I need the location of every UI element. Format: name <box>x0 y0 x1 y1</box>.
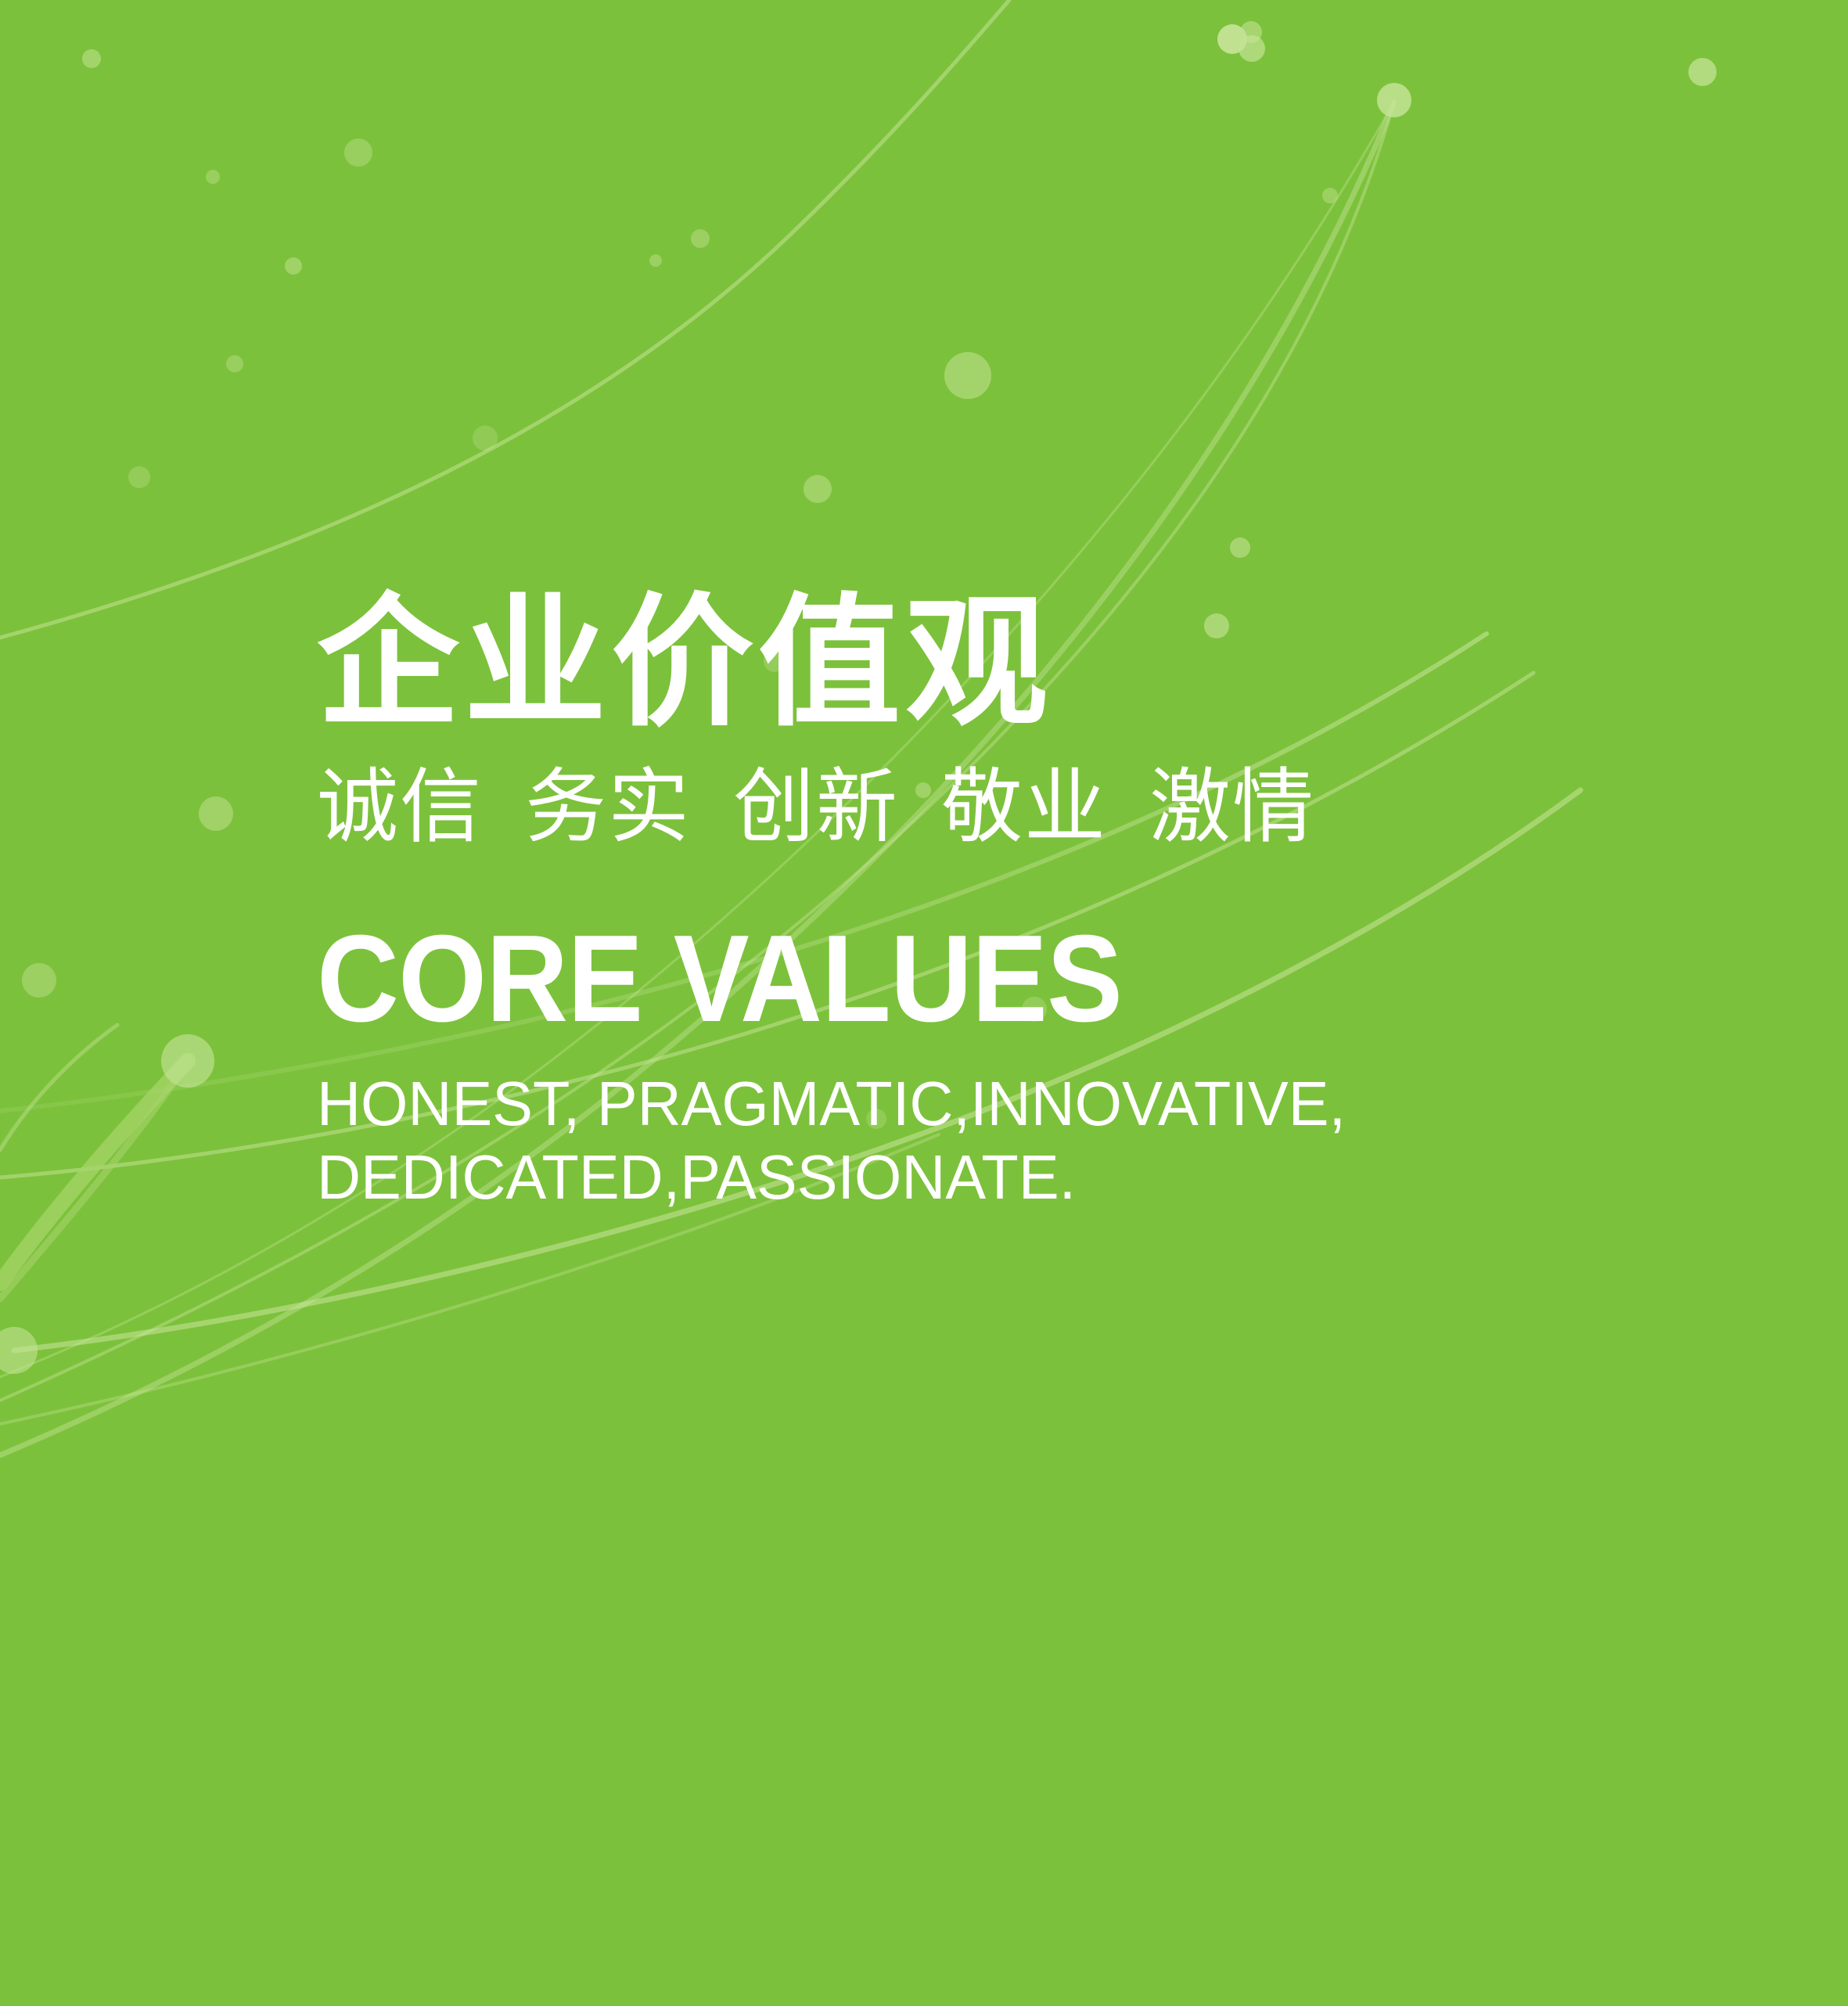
english-body: HONEST, PRAGMATIC,INNOVATIVE, DEDICATED,… <box>317 1041 1683 1215</box>
node-dot <box>1688 58 1717 86</box>
node-dot <box>128 466 150 488</box>
node-dot <box>944 352 991 399</box>
english-body-line-1: HONEST, PRAGMATIC,INNOVATIVE, <box>317 1067 1683 1141</box>
node-dot <box>344 138 372 167</box>
node-dot <box>1239 35 1265 62</box>
node-dot <box>199 796 233 831</box>
node-dot <box>82 49 101 68</box>
english-body-line-2: DEDICATED,PASSIONATE. <box>317 1141 1683 1214</box>
node-dot <box>1377 83 1411 117</box>
chinese-value-1: 诚信 <box>317 762 483 853</box>
node-dot <box>206 170 220 184</box>
chinese-value-2: 务实 <box>525 762 691 853</box>
node-dot <box>473 426 498 451</box>
node-dot <box>285 257 302 275</box>
node-dot <box>1322 188 1338 203</box>
node-dot <box>161 1034 214 1087</box>
node-dot <box>0 1327 38 1374</box>
chinese-value-4: 敬业 <box>941 762 1107 853</box>
node-dot <box>1240 21 1262 43</box>
chinese-value-5: 激情 <box>1149 762 1315 853</box>
node-dot <box>226 355 243 372</box>
node-dot <box>804 475 832 503</box>
chinese-value-3: 创新 <box>733 762 899 853</box>
poster-content: 企业价值观 诚信务实创新敬业激情 CORE VALUES HONEST, PRA… <box>317 591 1725 1215</box>
node-dot <box>649 254 662 267</box>
node-dot <box>1217 24 1247 54</box>
chinese-title: 企业价值观 <box>317 591 1725 734</box>
node-dot <box>691 229 710 248</box>
english-title: CORE VALUES <box>317 848 1613 1041</box>
chinese-values-line: 诚信务实创新敬业激情 <box>317 734 1725 848</box>
node-dot <box>22 963 56 998</box>
node-dot <box>1230 537 1250 558</box>
core-values-poster: 企业价值观 诚信务实创新敬业激情 CORE VALUES HONEST, PRA… <box>0 0 1848 2006</box>
